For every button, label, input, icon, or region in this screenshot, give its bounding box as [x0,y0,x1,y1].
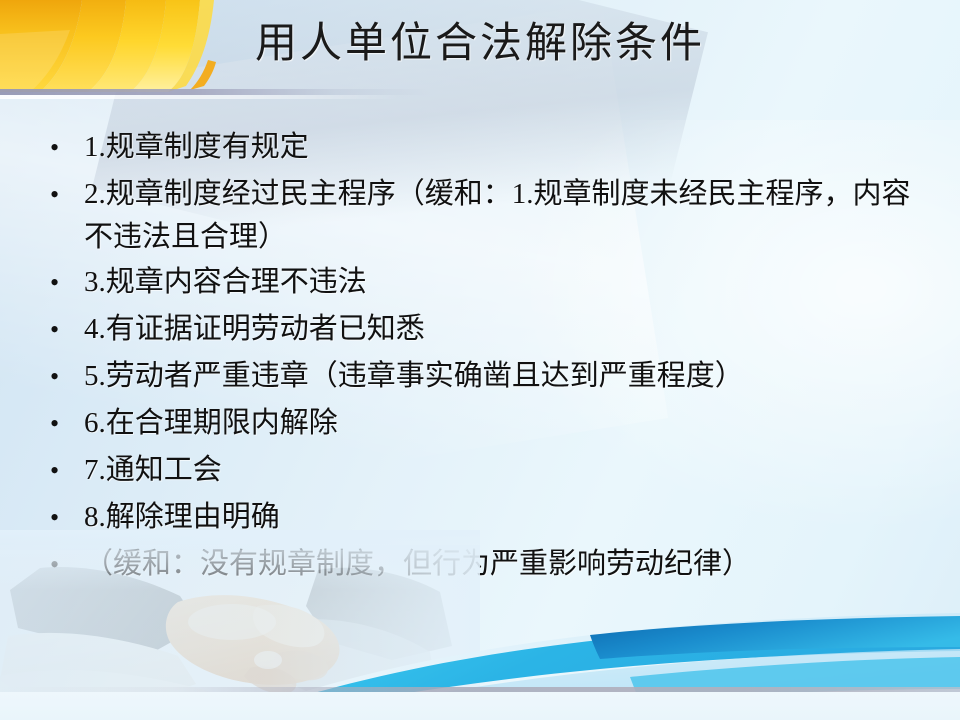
list-item: • （缓和：没有规章制度，但行为严重影响劳动纪律） [44,543,930,586]
bullet-dot-icon: • [44,126,84,169]
header-divider [0,89,430,95]
bullet-dot-icon: • [44,402,84,445]
header-divider-highlight [0,95,400,99]
list-item: • 1.规章制度有规定 [44,126,930,169]
blue-wave-decoration [300,585,960,720]
slide-canvas: 用人单位合法解除条件 • 1.规章制度有规定 • 2.规章制度经过民主程序（缓和… [0,0,960,720]
bullet-dot-icon: • [44,173,84,216]
list-item: • 5.劳动者严重违章（违章事实确凿且达到严重程度） [44,355,930,398]
bullet-dot-icon: • [44,449,84,492]
list-item-text: 3.规章内容合理不违法 [84,261,930,304]
bullet-list: • 1.规章制度有规定 • 2.规章制度经过民主程序（缓和：1.规章制度未经民主… [44,126,930,590]
list-item-text: 1.规章制度有规定 [84,126,930,169]
page-title: 用人单位合法解除条件 [0,14,960,74]
list-item: • 8.解除理由明确 [44,496,930,539]
bottom-strip [0,692,960,720]
list-item-text: 8.解除理由明确 [84,496,930,539]
bullet-dot-icon: • [44,261,84,304]
list-item-text: 2.规章制度经过民主程序（缓和：1.规章制度未经民主程序，内容不违法且合理） [84,173,930,259]
list-item-text: 4.有证据证明劳动者已知悉 [84,308,930,351]
list-item: • 7.通知工会 [44,449,930,492]
bottom-divider [0,687,960,692]
list-item-text: 5.劳动者严重违章（违章事实确凿且达到严重程度） [84,355,930,398]
bullet-dot-icon: • [44,308,84,351]
list-item-text: （缓和：没有规章制度，但行为严重影响劳动纪律） [84,543,930,586]
bullet-dot-icon: • [44,543,84,586]
list-item-text: 7.通知工会 [84,449,930,492]
bullet-dot-icon: • [44,355,84,398]
list-item: • 6.在合理期限内解除 [44,402,930,445]
bullet-dot-icon: • [44,496,84,539]
list-item: • 2.规章制度经过民主程序（缓和：1.规章制度未经民主程序，内容不违法且合理） [44,173,930,259]
list-item: • 4.有证据证明劳动者已知悉 [44,308,930,351]
list-item: • 3.规章内容合理不违法 [44,261,930,304]
list-item-text: 6.在合理期限内解除 [84,402,930,445]
